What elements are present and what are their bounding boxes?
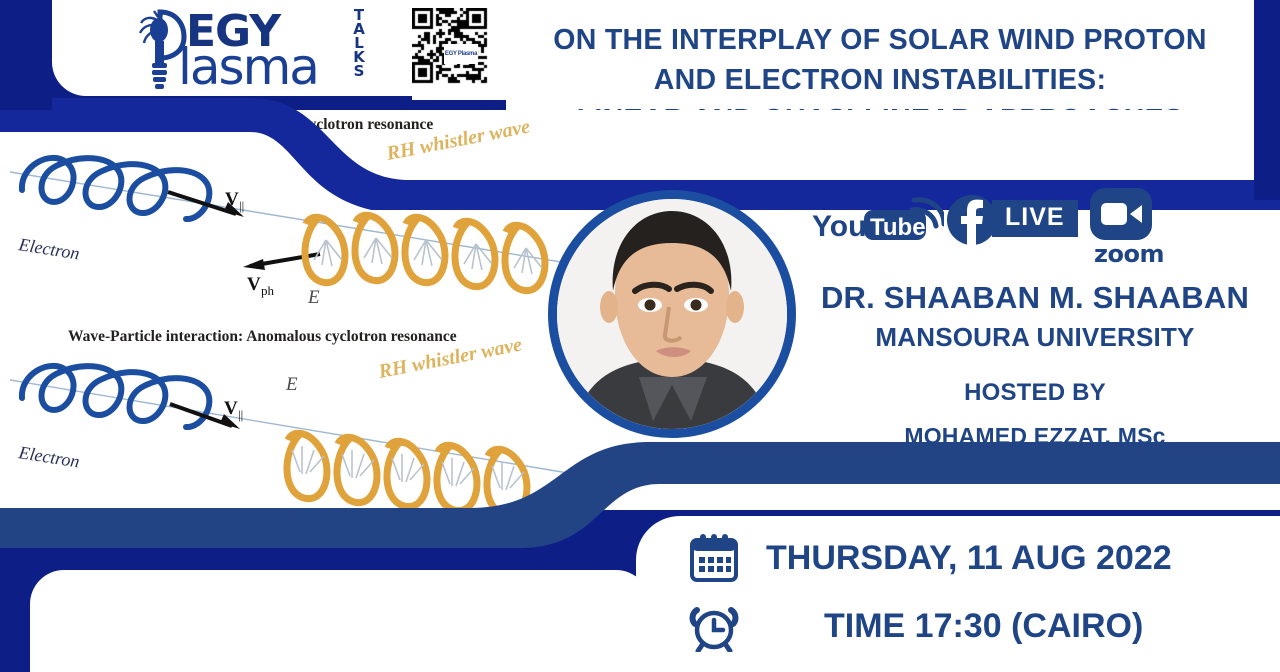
logo-talks-text: TALKS — [346, 8, 372, 78]
speaker-avatar — [548, 190, 796, 438]
youtube-live-icon[interactable]: You Tube — [812, 196, 944, 258]
speaker-affiliation: MANSOURA UNIVERSITY — [790, 322, 1280, 353]
logo-plasma-text: lasma — [178, 38, 318, 96]
speaker-name: DR. SHAABAN M. SHAABAN — [790, 280, 1280, 316]
figure-anomalous-cyclotron: Wave-Particle interaction: Anomalous cyc… — [0, 322, 620, 510]
event-date-row: THURSDAY, 11 AUG 2022 — [688, 532, 1172, 584]
figure-1-field-label: E — [307, 287, 320, 305]
figure-2-field-label: E — [285, 374, 298, 395]
figure-1-v-parallel-arrow: V || — [168, 189, 244, 217]
figure-1-wave-label: RH whistler wave — [384, 116, 532, 166]
host-name: MOHAMED EZZAT, MSc — [790, 423, 1280, 450]
svg-text:||: || — [239, 198, 244, 213]
page-title-line-1: ON THE INTERPLAY OF SOLAR WIND PROTON — [553, 20, 1206, 60]
calendar-icon — [688, 532, 740, 584]
hosted-by-label: HOSTED BY — [790, 379, 1280, 407]
frame-left-bottom — [0, 560, 30, 672]
figure-normal-cyclotron: Wave-Particle interaction: Normal cyclot… — [0, 110, 620, 305]
figure-2-electron-label: Electron — [16, 442, 81, 472]
page-title-line-2: AND ELECTRON INSTABILITIES: — [654, 60, 1106, 100]
figure-1-electron-label: Electron — [16, 234, 81, 264]
speaker-portrait — [557, 199, 787, 429]
figure-2-wave-label: RH whistler wave — [376, 334, 524, 384]
figure-1-graphic: Electron V || V ph — [0, 110, 620, 305]
zoom-icon[interactable] — [1088, 186, 1154, 242]
bottom-left-panel — [30, 570, 650, 672]
svg-text:V: V — [224, 398, 238, 419]
event-time: TIME 17:30 (CAIRO) — [824, 607, 1143, 646]
figure-2-graphic: Electron V || — [0, 322, 620, 510]
svg-text:Tube: Tube — [870, 214, 926, 241]
svg-text:V: V — [247, 274, 261, 295]
svg-text:You: You — [812, 210, 866, 243]
svg-text:V: V — [225, 189, 239, 210]
event-details-panel: THURSDAY, 11 AUG 2022 TIME 17:30 (CAIRO) — [636, 516, 1280, 672]
figure-2-whistler-coil — [287, 433, 527, 510]
qr-center-logo: EGY Plasma — [444, 44, 478, 64]
svg-text:ph: ph — [261, 283, 275, 298]
svg-text:||: || — [238, 407, 243, 422]
egy-plasma-logo[interactable]: EGY lasma TALKS — [130, 2, 370, 94]
alarm-clock-icon — [688, 600, 740, 652]
event-date: THURSDAY, 11 AUG 2022 — [766, 539, 1172, 578]
qr-code[interactable]: EGY Plasma — [412, 8, 510, 100]
speaker-info: DR. SHAABAN M. SHAABAN MANSOURA UNIVERSI… — [790, 280, 1280, 450]
platform-icons: You Tube LIVE zoom — [812, 186, 1172, 274]
frame-right-top — [1254, 0, 1280, 200]
frame-left-top — [0, 0, 52, 110]
event-time-row: TIME 17:30 (CAIRO) — [688, 600, 1143, 652]
facebook-icon[interactable] — [946, 194, 998, 246]
webinar-poster: EGY lasma TALKS EGY Plasma ON THE INTERP… — [0, 0, 1280, 672]
zoom-wordmark: zoom — [1094, 240, 1164, 268]
live-badge: LIVE — [992, 200, 1078, 237]
